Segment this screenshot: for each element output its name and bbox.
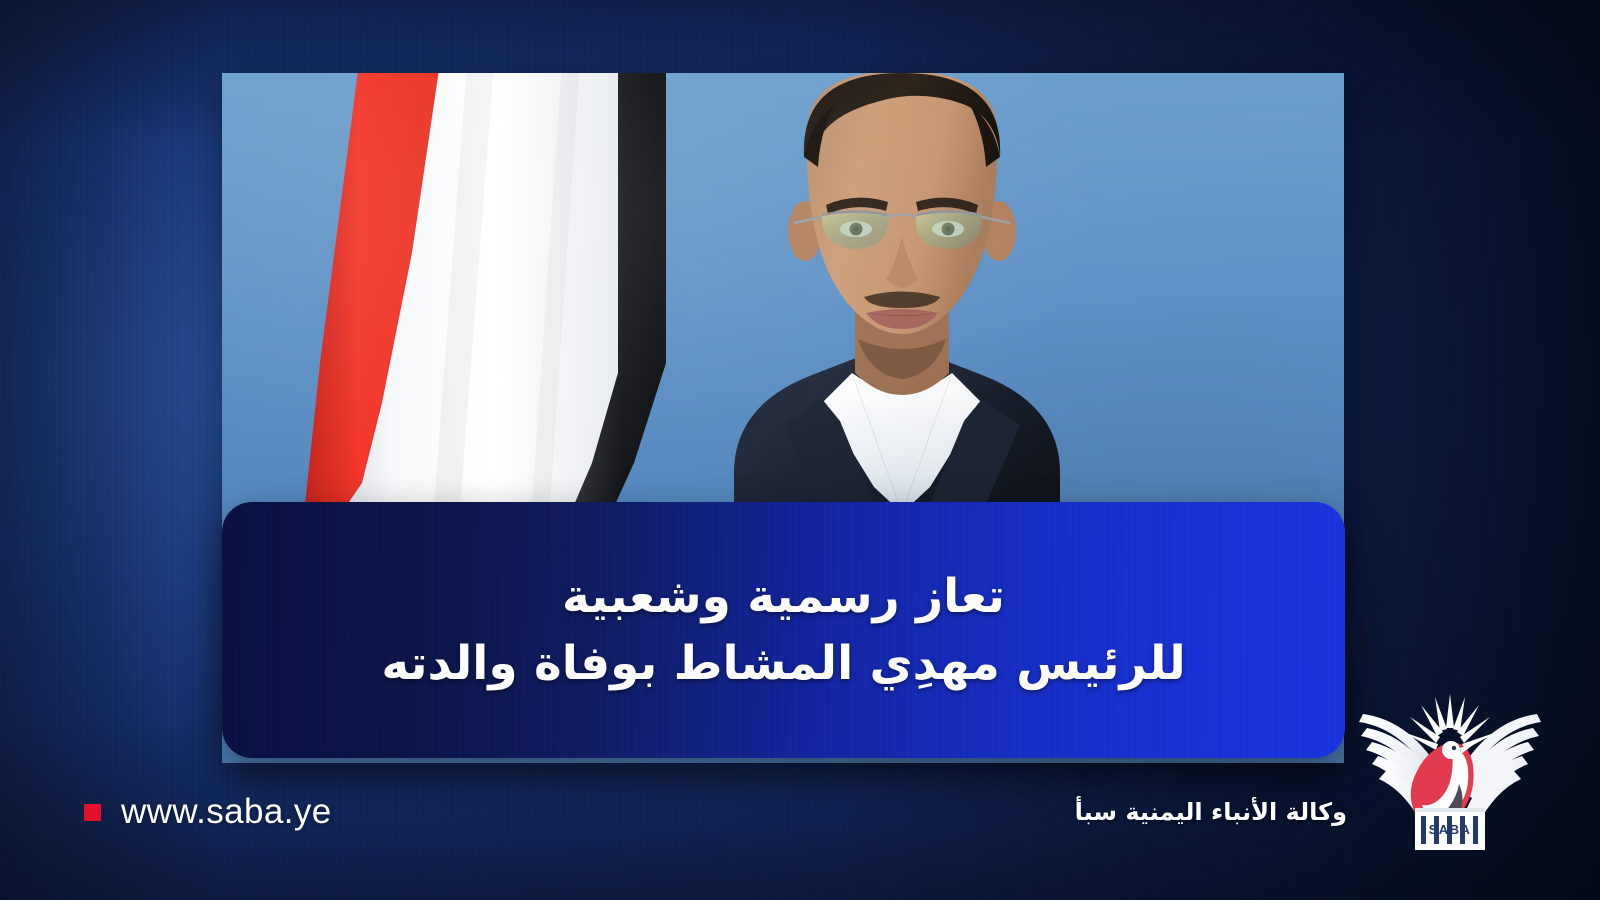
agency-name-text: وكالة الأنباء اليمنية سبأ — [1075, 798, 1347, 826]
website-url-group[interactable]: www.saba.ye — [84, 792, 332, 832]
headline-line-2: للرئيس مهدِي المشاط بوفاة والدته — [381, 632, 1185, 695]
logo-base-building: SABA — [1415, 808, 1485, 850]
saba-agency-logo-icon: SABA — [1355, 688, 1545, 853]
logo-wordmark-text: SABA — [1429, 822, 1472, 837]
headline-line-1: تعاز رسمية وشعبية — [562, 565, 1005, 628]
website-url-text[interactable]: www.saba.ye — [121, 792, 332, 832]
news-card-canvas: تعاز رسمية وشعبية للرئيس مهدِي المشاط بو… — [0, 0, 1600, 900]
red-square-bullet-icon — [84, 804, 101, 821]
headline-stripe-texture — [222, 502, 1345, 758]
headline-banner: تعاز رسمية وشعبية للرئيس مهدِي المشاط بو… — [222, 502, 1345, 758]
